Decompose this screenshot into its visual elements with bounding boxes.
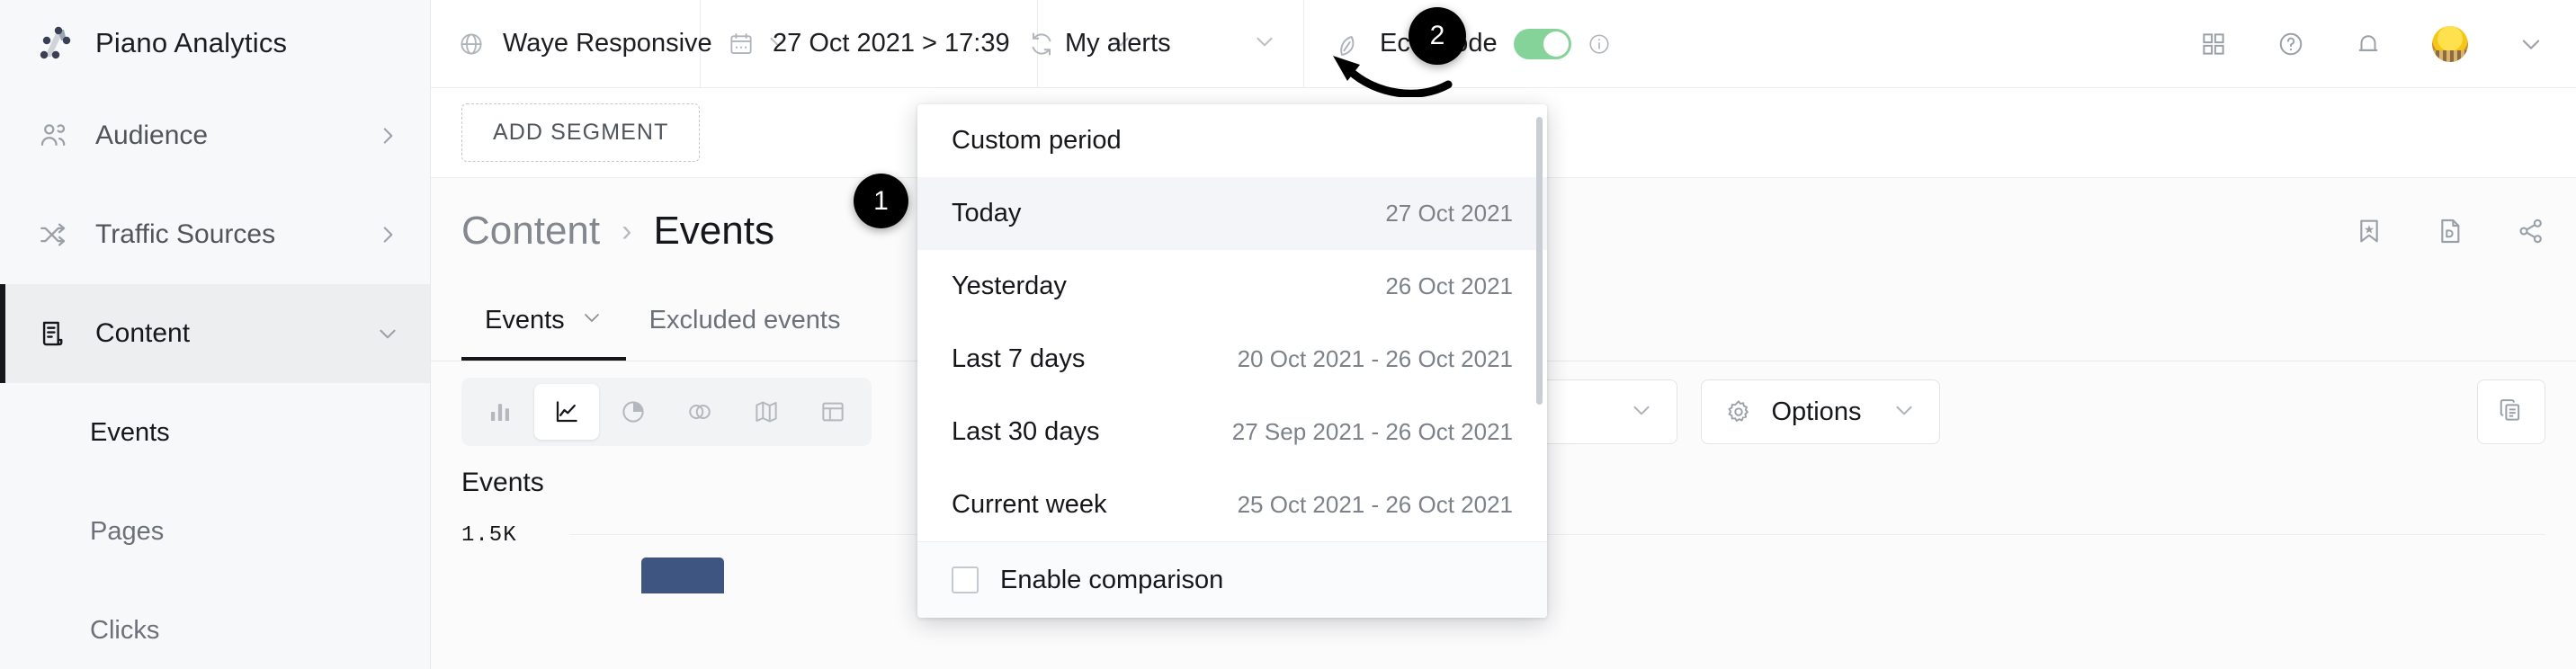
chart-bar[interactable] — [641, 557, 724, 593]
eco-mode-toggle[interactable] — [1514, 29, 1571, 59]
date-option-last-7-days[interactable]: Last 7 days 20 Oct 2021 - 26 Oct 2021 — [917, 323, 1547, 396]
chart-ytick-label: 1.5K — [461, 523, 517, 548]
date-option-label: Last 30 days — [952, 417, 1099, 447]
apps-grid-icon[interactable] — [2200, 31, 2227, 58]
date-option-value: 20 Oct 2021 - 26 Oct 2021 — [1238, 345, 1513, 373]
enable-comparison-checkbox[interactable] — [952, 566, 979, 593]
date-option-label: Today — [952, 199, 1021, 228]
enable-comparison-label: Enable comparison — [1000, 566, 1223, 595]
enable-comparison-row[interactable]: Enable comparison — [917, 541, 1547, 618]
sidebar-item-traffic-sources[interactable]: Traffic Sources — [0, 185, 430, 284]
date-option-value: 27 Sep 2021 - 26 Oct 2021 — [1232, 418, 1513, 446]
sidebar-item-label: Traffic Sources — [95, 219, 353, 250]
sidebar-subitem-label: Pages — [90, 517, 164, 547]
date-option-label: Custom period — [952, 126, 1122, 156]
dropdown-scrollbar[interactable] — [1536, 117, 1543, 405]
app-root: Piano Analytics Audience — [0, 0, 2576, 669]
page-actions — [2355, 217, 2545, 245]
callout-badge-2: 2 — [1409, 7, 1466, 65]
bar-chart-icon[interactable] — [468, 384, 532, 440]
sidebar: Piano Analytics Audience — [0, 0, 431, 669]
sidebar-subitem-label: Events — [90, 418, 170, 448]
info-icon[interactable] — [1588, 32, 1611, 56]
tab-label: Excluded events — [649, 306, 841, 335]
chevron-right-icon — [376, 124, 399, 147]
date-option-yesterday[interactable]: Yesterday 26 Oct 2021 — [917, 250, 1547, 323]
sidebar-subitem-events[interactable]: Events — [0, 383, 430, 482]
tab-events[interactable]: Events — [461, 284, 626, 361]
sidebar-subitem-pages[interactable]: Pages — [0, 482, 430, 581]
date-option-label: Last 7 days — [952, 344, 1085, 374]
layout-chart-icon[interactable] — [801, 384, 865, 440]
chevron-down-icon — [581, 306, 603, 335]
alerts-selector[interactable]: My alerts — [1038, 0, 1304, 87]
add-segment-button[interactable]: ADD SEGMENT — [461, 103, 700, 162]
chevron-down-icon[interactable] — [2518, 31, 2544, 57]
chevron-down-icon — [376, 322, 399, 345]
eco-mode-control[interactable]: Eco mode — [1304, 0, 1638, 87]
tab-label: Events — [485, 306, 565, 335]
tab-excluded-events[interactable]: Excluded events — [626, 284, 864, 361]
shuffle-icon — [34, 216, 72, 254]
date-option-last-30-days[interactable]: Last 30 days 27 Sep 2021 - 26 Oct 2021 — [917, 396, 1547, 468]
date-range-dropdown: Custom period Today 27 Oct 2021 Yesterda… — [917, 104, 1547, 618]
pie-chart-icon[interactable] — [601, 384, 666, 440]
brand-name: Piano Analytics — [95, 27, 287, 59]
breadcrumb-parent[interactable]: Content — [461, 209, 600, 254]
date-option-current-week[interactable]: Current week 25 Oct 2021 - 26 Oct 2021 — [917, 468, 1547, 541]
callout-badge-1: 1 — [854, 174, 908, 228]
chart-gridline — [569, 534, 2545, 535]
sidebar-item-label: Audience — [95, 120, 353, 151]
breadcrumb-separator: › — [622, 214, 631, 249]
avatar[interactable] — [2432, 26, 2468, 62]
copy-button[interactable] — [2477, 379, 2545, 444]
topbar-right-icons — [2200, 0, 2576, 87]
map-chart-icon[interactable] — [734, 384, 799, 440]
line-chart-icon[interactable] — [534, 384, 599, 440]
date-option-label: Current week — [952, 490, 1106, 520]
chevron-down-icon — [1630, 398, 1653, 426]
leaf-icon — [1335, 30, 1364, 58]
date-option-value: 25 Oct 2021 - 26 Oct 2021 — [1238, 491, 1513, 519]
options-button[interactable]: Options — [1701, 379, 1940, 444]
date-range-selector[interactable]: 27 Oct 2021 > 17:39 — [701, 0, 1038, 87]
piano-analytics-logo-icon — [34, 22, 76, 64]
globe-icon — [458, 31, 485, 58]
sidebar-item-audience[interactable]: Audience — [0, 86, 430, 185]
date-option-today[interactable]: Today 27 Oct 2021 — [917, 177, 1547, 250]
help-circle-icon[interactable] — [2277, 31, 2304, 58]
chevron-down-icon — [1892, 398, 1916, 426]
date-option-custom-period[interactable]: Custom period — [917, 104, 1547, 177]
calendar-icon — [728, 31, 755, 58]
date-range-list: Custom period Today 27 Oct 2021 Yesterda… — [917, 104, 1547, 541]
share-icon[interactable] — [2517, 217, 2545, 245]
sidebar-item-content[interactable]: Content — [0, 284, 430, 383]
people-icon — [34, 117, 72, 155]
site-selector[interactable]: Waye Responsive — [431, 0, 701, 87]
gear-icon — [1725, 398, 1752, 425]
sidebar-subitem-clicks[interactable]: Clicks — [0, 581, 430, 669]
sidebar-subitem-label: Clicks — [90, 616, 159, 646]
sidebar-item-label: Content — [95, 318, 353, 349]
brand[interactable]: Piano Analytics — [0, 0, 430, 86]
topbar: Waye Responsive 27 Oct 2021 > 17:39 — [431, 0, 2576, 88]
site-name: Waye Responsive — [503, 29, 712, 58]
date-option-value: 27 Oct 2021 — [1385, 200, 1513, 227]
bell-icon[interactable] — [2355, 31, 2382, 58]
alerts-label: My alerts — [1065, 29, 1171, 58]
chevron-down-icon — [1217, 30, 1276, 58]
date-range-value: 27 Oct 2021 > 17:39 — [773, 29, 1010, 58]
copy-icon — [2498, 397, 2525, 428]
export-document-icon[interactable] — [2436, 217, 2464, 245]
venn-chart-icon[interactable] — [667, 384, 732, 440]
document-icon — [34, 315, 72, 352]
options-label: Options — [1772, 397, 1862, 427]
chevron-right-icon — [376, 223, 399, 246]
bookmark-star-icon[interactable] — [2355, 217, 2384, 245]
date-option-label: Yesterday — [952, 272, 1067, 301]
page-title: Events — [653, 209, 774, 254]
date-option-value: 26 Oct 2021 — [1385, 272, 1513, 300]
chart-type-group — [461, 378, 872, 446]
